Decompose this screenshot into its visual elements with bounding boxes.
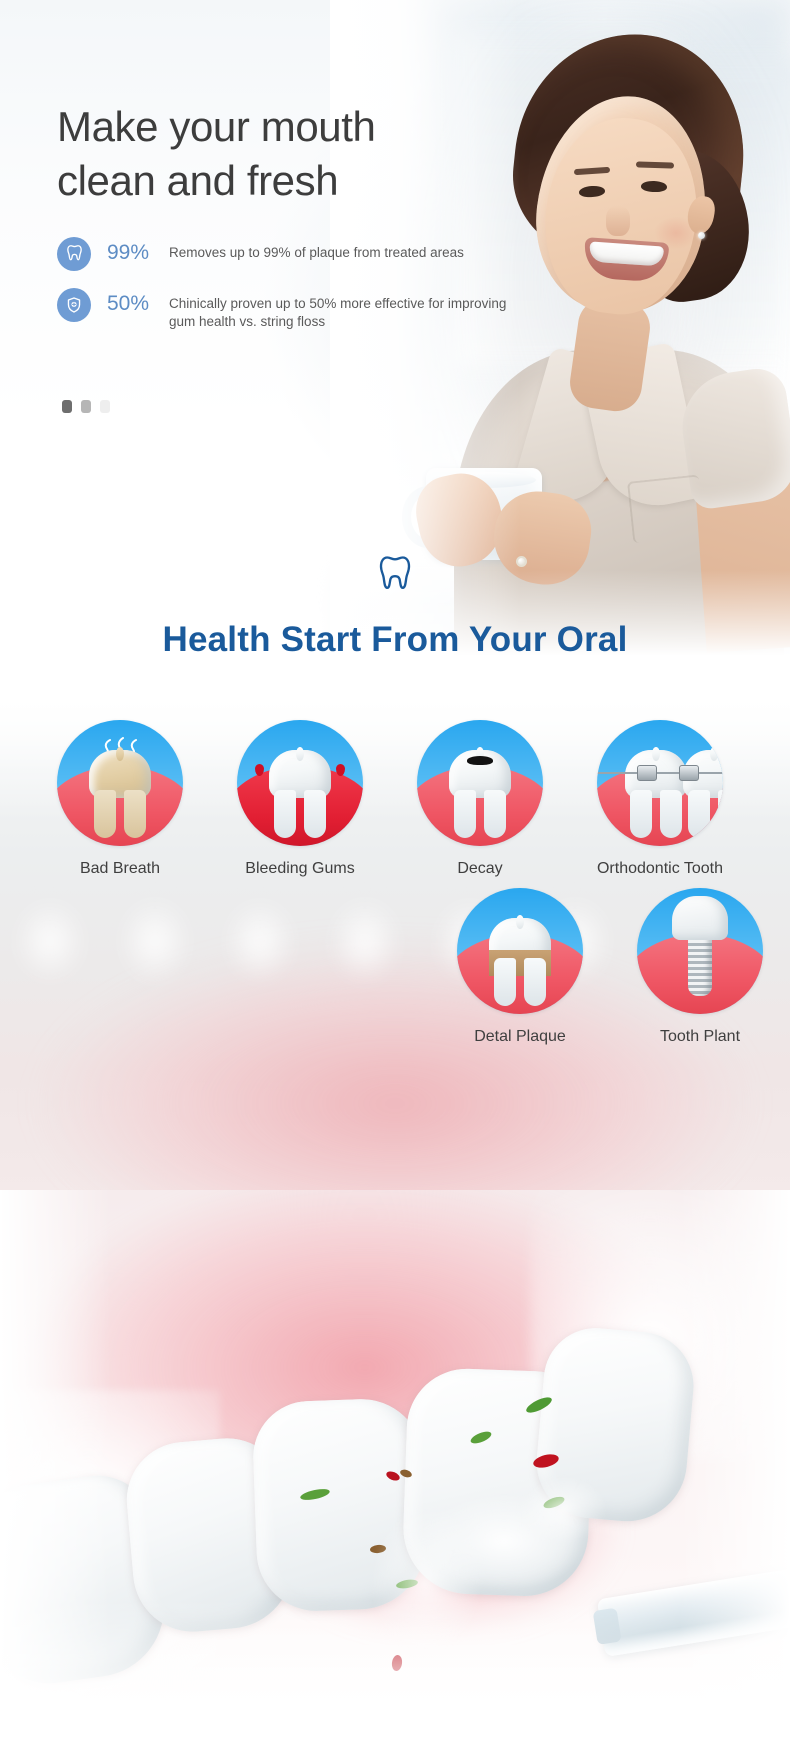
tooth-root-right xyxy=(718,790,723,838)
implant-screw xyxy=(688,934,712,996)
condition-detal-plaque[interactable]: Detal Plaque xyxy=(430,888,610,1047)
carousel-dot-3[interactable] xyxy=(100,400,110,413)
white-tooth xyxy=(449,750,511,836)
condition-bad-breath[interactable]: Bad Breath xyxy=(30,720,210,879)
tooth-root-right xyxy=(524,958,546,1006)
water-flosser-cleaning-teeth-image xyxy=(0,1190,790,1750)
tooth-outline-icon xyxy=(0,552,790,598)
decay-tooth-icon xyxy=(417,720,543,846)
white-tooth-right xyxy=(683,750,723,836)
stat-description: Chinically proven up to 50% more effecti… xyxy=(169,287,527,331)
tooth-icon xyxy=(57,237,91,271)
condition-label: Detal Plaque xyxy=(474,1027,566,1047)
carousel-pagination[interactable] xyxy=(62,400,110,413)
tooth-root-left xyxy=(454,790,476,838)
bracket-icon-right xyxy=(679,765,699,781)
white-tooth xyxy=(269,750,331,836)
tooth-root-left xyxy=(94,790,116,838)
hero-banner: Make your mouth clean and fresh 99% Remo… xyxy=(0,0,790,680)
hero-copy: Make your mouth clean and fresh 99% Remo… xyxy=(57,100,527,347)
carousel-dot-2[interactable] xyxy=(81,400,91,413)
section-heading: Health Start From Your Oral xyxy=(0,620,790,660)
model-teeth xyxy=(589,241,664,266)
tooth-root-left xyxy=(274,790,296,838)
bleeding-gums-tooth-icon xyxy=(237,720,363,846)
cavity-spot xyxy=(467,756,493,765)
conditions-row-2: Detal Plaque Tooth Plant xyxy=(430,888,790,1047)
condition-label: Orthodontic Tooth xyxy=(597,859,723,879)
plaque-tooth-icon xyxy=(457,888,583,1014)
model-nose xyxy=(606,206,630,236)
tooth-root-left xyxy=(630,790,652,838)
tooth-root-right xyxy=(484,790,506,838)
condition-label: Decay xyxy=(457,859,502,879)
condition-decay[interactable]: Decay xyxy=(390,720,570,879)
earring-icon xyxy=(698,232,705,239)
conditions-row-1: Bad Breath Bleeding Gums xyxy=(30,720,790,879)
white-tooth-left xyxy=(625,750,687,836)
tooth-root-left xyxy=(688,790,710,838)
tooth-root-right xyxy=(304,790,326,838)
model-eye-right xyxy=(641,181,667,193)
stat-item-gum-health: 50% Chinically proven up to 50% more eff… xyxy=(57,287,527,331)
oral-conditions-section: Bad Breath Bleeding Gums xyxy=(0,680,790,1200)
stat-description: Removes up to 99% of plaque from treated… xyxy=(169,236,464,262)
tooth-root-right xyxy=(124,790,146,838)
blouse-pocket xyxy=(627,474,705,543)
shield-plus-icon xyxy=(57,288,91,322)
hero-stats-list: 99% Removes up to 99% of plaque from tre… xyxy=(57,236,527,331)
hero-title-line-1: Make your mouth xyxy=(57,103,375,150)
implant-crown xyxy=(672,896,728,940)
implant-tooth-icon xyxy=(637,888,763,1014)
blood-drop-right xyxy=(336,764,345,776)
bad-breath-tooth-icon xyxy=(57,720,183,846)
braces-wire xyxy=(597,772,723,774)
yellow-tooth xyxy=(89,750,151,836)
carousel-dot-1[interactable] xyxy=(62,400,72,413)
condition-label: Bleeding Gums xyxy=(245,859,354,879)
image-bottom-fade xyxy=(0,1600,790,1750)
condition-orthodontic-tooth[interactable]: Orthodontic Tooth xyxy=(570,720,750,879)
stat-percent: 50% xyxy=(107,287,169,321)
condition-label: Tooth Plant xyxy=(660,1027,740,1047)
model-eyebrow-right xyxy=(636,161,674,168)
condition-label: Bad Breath xyxy=(80,859,160,879)
bracket-icon-left xyxy=(637,765,657,781)
stat-percent: 99% xyxy=(107,236,169,270)
condition-bleeding-gums[interactable]: Bleeding Gums xyxy=(210,720,390,879)
tooth-root-left xyxy=(494,958,516,1006)
condition-tooth-plant[interactable]: Tooth Plant xyxy=(610,888,790,1047)
tooth-root-right xyxy=(660,790,682,838)
plaque-tooth xyxy=(489,918,551,1004)
page-title: Make your mouth clean and fresh xyxy=(57,100,527,208)
braces-tooth-icon xyxy=(597,720,723,846)
stat-item-plaque: 99% Removes up to 99% of plaque from tre… xyxy=(57,236,527,271)
hero-title-line-2: clean and fresh xyxy=(57,157,338,204)
